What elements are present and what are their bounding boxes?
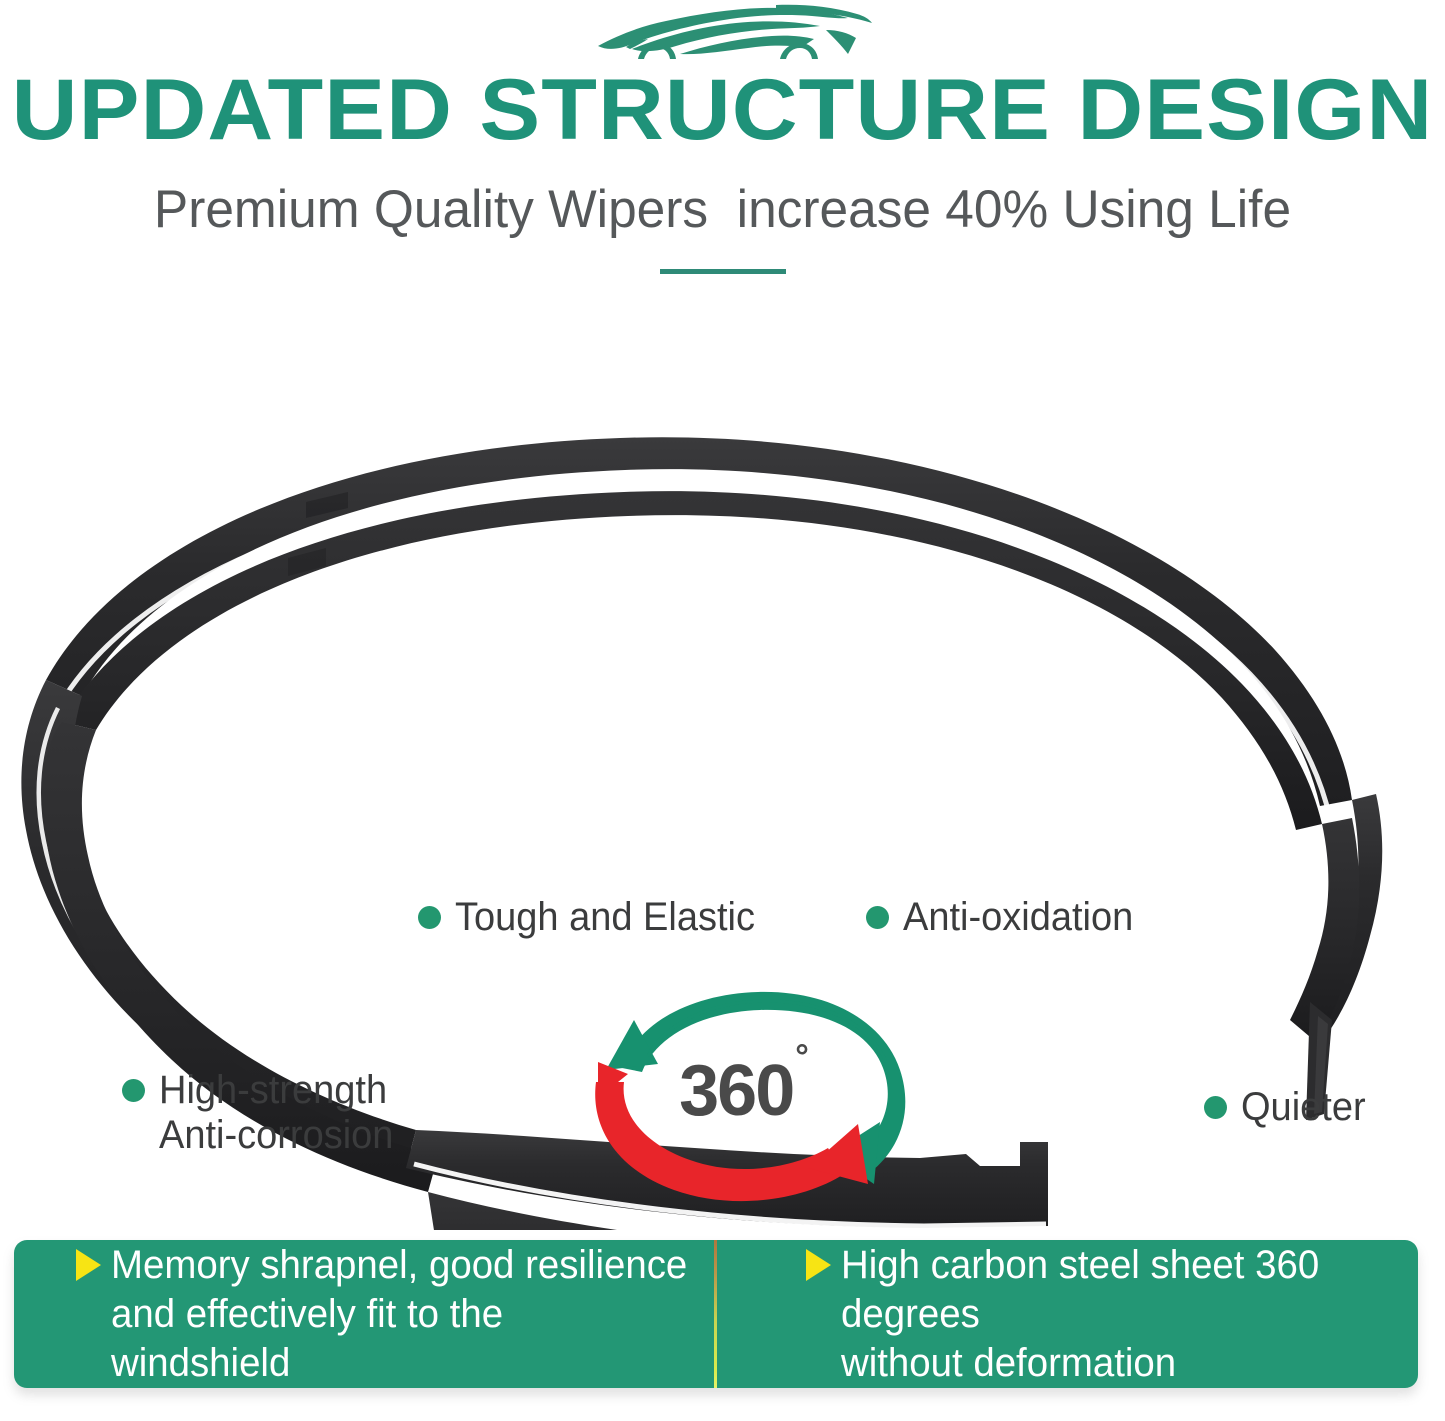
banner-divider (714, 1240, 717, 1388)
callout-label: Quieter (1241, 1085, 1366, 1130)
callout-tough-and-elastic: Tough and Elastic (418, 895, 771, 940)
callout-anti-oxidation: Anti-oxidation (866, 895, 1145, 940)
bullet-dot-icon (866, 906, 889, 929)
callout-label: Tough and Elastic (455, 895, 755, 940)
banner-right-text: High carbon steel sheet 360 degrees with… (841, 1241, 1395, 1388)
triangle-right-icon (806, 1249, 831, 1281)
car-silhouette-icon (580, 2, 880, 64)
feature-banner-left: Memory shrapnel, good resilience and eff… (14, 1240, 716, 1388)
title-underline-divider (660, 269, 786, 274)
bullet-dot-icon (1204, 1096, 1227, 1119)
banner-row: Memory shrapnel, good resilience and eff… (76, 1241, 716, 1388)
page-subtitle: Premium Quality Wipers increase 40% Usin… (22, 176, 1424, 244)
triangle-right-icon (76, 1249, 101, 1281)
product-infographic-page: UPDATED STRUCTURE DESIGN Premium Quality… (0, 0, 1445, 1421)
banner-row: High carbon steel sheet 360 degrees with… (806, 1241, 1418, 1388)
product-image-area: Tough and Elastic Anti-oxidation High-st… (0, 330, 1445, 1230)
feature-banner-right: High carbon steel sheet 360 degrees with… (716, 1240, 1418, 1388)
callout-label: Anti-oxidation (903, 895, 1133, 940)
badge-360-degrees: 360 ° (562, 978, 932, 1210)
callout-quieter: Quieter (1204, 1085, 1372, 1130)
banner-left-text: Memory shrapnel, good resilience and eff… (111, 1241, 692, 1388)
red-curved-arrow (595, 1062, 868, 1201)
bullet-dot-icon (122, 1079, 145, 1102)
page-title: UPDATED STRUCTURE DESIGN (0, 62, 1445, 158)
callout-high-strength-anti-corrosion: High-strength Anti-corrosion (122, 1068, 406, 1158)
feature-banner: Memory shrapnel, good resilience and eff… (14, 1240, 1418, 1388)
callout-label: High-strength Anti-corrosion (159, 1068, 393, 1158)
bullet-dot-icon (418, 906, 441, 929)
